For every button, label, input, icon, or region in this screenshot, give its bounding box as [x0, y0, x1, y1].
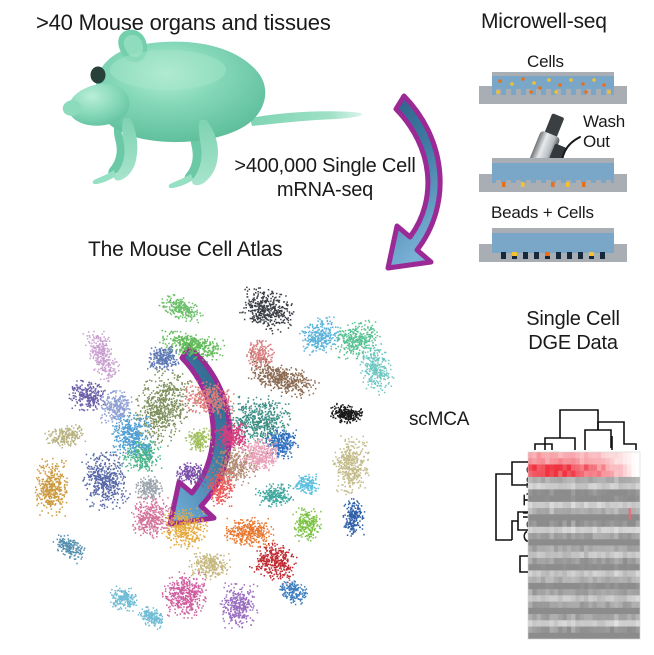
heatmap-cell — [597, 452, 602, 459]
heatmap-cell — [567, 477, 572, 484]
tsne-points-cluster-18 — [265, 428, 299, 459]
tsne-cluster — [135, 476, 163, 501]
heatmap-cell — [610, 577, 615, 584]
heatmap-cell — [618, 452, 623, 459]
heatmap-cell — [593, 570, 598, 577]
heatmap-cell — [537, 602, 542, 609]
tsne-points-cluster-29 — [343, 498, 366, 537]
heatmap-cell — [610, 496, 615, 503]
heatmap-cell — [627, 521, 632, 528]
heatmap-cell — [567, 558, 572, 565]
heatmap-cell — [627, 546, 632, 553]
heatmap-cell — [588, 533, 593, 540]
heatmap-cell — [571, 527, 576, 534]
heatmap-cell — [575, 452, 580, 459]
heatmap-cell — [636, 452, 641, 459]
tsne-points-cluster-22 — [332, 435, 369, 495]
heatmap-cell — [593, 452, 598, 459]
heatmap-cell — [580, 577, 585, 584]
atlas-title: The Mouse Cell Atlas — [88, 238, 282, 263]
mouse-hind-leg — [192, 120, 218, 185]
heatmap-cell — [597, 589, 602, 596]
tsne-points-cluster-24 — [81, 452, 131, 511]
tsne-points-cluster-33 — [249, 543, 298, 585]
microwell-plate-beads — [479, 228, 627, 262]
heatmap-cell — [584, 564, 589, 571]
heatmap-cell — [623, 564, 628, 571]
heatmap-cell — [623, 577, 628, 584]
heatmap-cell — [571, 471, 576, 478]
heatmap-cell — [571, 483, 576, 490]
heatmap-cell — [588, 489, 593, 496]
heatmap-cell — [618, 627, 623, 634]
heatmap-cell — [580, 521, 585, 528]
plate-1-body — [479, 72, 627, 104]
tsne-cluster — [159, 330, 225, 363]
tsne-points-cluster-05 — [83, 331, 121, 383]
heatmap-cell — [554, 620, 559, 627]
heatmap-cell — [571, 620, 576, 627]
heatmap-cell — [601, 589, 606, 596]
heatmap-cell — [588, 464, 593, 471]
heatmap-cell — [593, 521, 598, 528]
tsne-points-cluster-45 — [135, 476, 163, 501]
heatmap-cell — [631, 570, 636, 577]
heatmap-cell — [597, 539, 602, 546]
heatmap-cell — [584, 595, 589, 602]
heatmap-cell — [580, 452, 585, 459]
heatmap-cell — [571, 477, 576, 484]
heatmap-cell — [593, 633, 598, 640]
heatmap-cell — [614, 508, 619, 515]
heatmap-cell — [597, 564, 602, 571]
heatmap-cell — [558, 608, 563, 615]
tsne-cluster — [229, 395, 291, 445]
heatmap-cell — [631, 496, 636, 503]
tsne-cluster — [335, 320, 382, 360]
heatmap-cell — [597, 508, 602, 515]
heatmap-cell — [610, 464, 615, 471]
heatmap-cell — [636, 552, 641, 559]
heatmap-cell — [610, 483, 615, 490]
heatmap-cell — [575, 608, 580, 615]
heatmap-cell — [550, 620, 555, 627]
heatmap-cell — [562, 595, 567, 602]
heatmap-cell — [528, 627, 533, 634]
cell-type-heatmap — [496, 410, 640, 639]
tsne-points-cluster-44 — [185, 428, 214, 452]
heatmap-cell — [606, 471, 611, 478]
heatmap-cell — [618, 577, 623, 584]
microwell-title: Microwell-seq — [481, 10, 607, 35]
tsne-points-cluster-09 — [360, 345, 395, 395]
heatmap-cell — [610, 602, 615, 609]
heatmap-cell — [571, 552, 576, 559]
heatmap-cell — [606, 502, 611, 509]
heatmap-cell — [606, 464, 611, 471]
heatmap-cell — [618, 508, 623, 515]
heatmap-cell — [601, 627, 606, 634]
tsne-points-cluster-26 — [176, 462, 209, 487]
heatmap-cell — [575, 527, 580, 534]
heatmap-cell — [584, 558, 589, 565]
heatmap-cell — [606, 558, 611, 565]
heatmap-cell — [567, 546, 572, 553]
heatmap-cell — [545, 595, 550, 602]
heatmap-cell — [567, 452, 572, 459]
heatmap-cell — [601, 570, 606, 577]
heatmap-cell — [588, 570, 593, 577]
heatmap-cell — [528, 595, 533, 602]
heatmap-cell — [606, 452, 611, 459]
heatmap-cell — [606, 489, 611, 496]
heatmap-cell — [614, 477, 619, 484]
heatmap-cell — [597, 464, 602, 471]
heatmap-cell — [606, 627, 611, 634]
heatmap-cell — [593, 608, 598, 615]
heatmap-cell — [636, 546, 641, 553]
heatmap-cell — [623, 595, 628, 602]
heatmap-cell — [627, 508, 632, 515]
heatmap-cell — [623, 483, 628, 490]
heatmap-cell — [614, 608, 619, 615]
heatmap-cell — [554, 608, 559, 615]
heatmap-cell — [627, 608, 632, 615]
pipette-button — [549, 143, 566, 162]
heatmap-cell — [618, 514, 623, 521]
tsne-cluster — [360, 345, 395, 395]
heatmap-cell — [627, 595, 632, 602]
heatmap-cell — [627, 620, 632, 627]
heatmap-cell — [588, 558, 593, 565]
heatmap-cell — [528, 602, 533, 609]
heatmap-cell — [584, 483, 589, 490]
heatmap-cell — [593, 614, 598, 621]
heatmap-cell — [545, 589, 550, 596]
heatmap-cell — [584, 502, 589, 509]
tsne-cluster — [248, 353, 320, 399]
mouse-nose — [63, 100, 82, 116]
heatmap-cell — [584, 533, 589, 540]
heatmap-cell — [571, 452, 576, 459]
heatmap-cell — [601, 558, 606, 565]
heatmap-cell — [567, 595, 572, 602]
heatmap-cell — [627, 564, 632, 571]
mouse-front-foot — [93, 170, 116, 184]
heatmap-cell — [567, 527, 572, 534]
heatmap-cell — [610, 558, 615, 565]
heatmap-cell — [562, 602, 567, 609]
heatmap-cell — [532, 595, 537, 602]
heatmap-cell — [627, 627, 632, 634]
heatmap-cell — [571, 608, 576, 615]
heatmap-cell — [636, 539, 641, 546]
tsne-cluster — [44, 424, 86, 448]
tsne-cluster — [176, 462, 209, 487]
heatmap-cell — [601, 452, 606, 459]
heatmap-cell — [571, 583, 576, 590]
heatmap-cell — [597, 502, 602, 509]
heatmap-cell — [550, 614, 555, 621]
heatmap-cell — [554, 602, 559, 609]
heatmap-cell — [618, 489, 623, 496]
heatmap-cell — [528, 589, 533, 596]
heatmap-cell — [588, 583, 593, 590]
heatmap-cell — [532, 589, 537, 596]
heatmap-cell — [584, 471, 589, 478]
tsne-points-cluster-08 — [246, 340, 275, 371]
heatmap-cell — [614, 514, 619, 521]
heatmap-cell — [575, 564, 580, 571]
heatmap-cell — [627, 583, 632, 590]
heatmap-cell — [627, 614, 632, 621]
heatmap-cell — [541, 595, 546, 602]
heatmap-cell — [614, 452, 619, 459]
tsne-points-cluster-34 — [53, 534, 86, 564]
wash-out-label: Wash Out — [583, 112, 625, 152]
heatmap-cell — [606, 521, 611, 528]
heatmap-cell — [575, 483, 580, 490]
heatmap-cell — [618, 477, 623, 484]
heatmap-cell — [618, 527, 623, 534]
heatmap-cell — [601, 602, 606, 609]
heatmap-cell — [614, 558, 619, 565]
heatmap-cell — [610, 546, 615, 553]
heatmap-cell — [575, 521, 580, 528]
heatmap-cell — [606, 533, 611, 540]
heatmap-cell — [627, 527, 632, 534]
heatmap-cell — [567, 508, 572, 515]
heatmap-cell — [631, 521, 636, 528]
heatmap-cell — [567, 570, 572, 577]
heatmap-cell — [588, 483, 593, 490]
heatmap-cell — [550, 633, 555, 640]
heatmap-cell — [597, 595, 602, 602]
tsne-points-cluster-01 — [239, 287, 294, 335]
beads-cells-label: Beads + Cells — [491, 203, 594, 223]
heatmap-cell — [623, 620, 628, 627]
tsne-points-cluster-20 — [212, 446, 259, 486]
plate-2-wells — [496, 180, 611, 188]
heatmap-cell — [627, 539, 632, 546]
heatmap-cell — [593, 471, 598, 478]
heatmap-cell — [537, 614, 542, 621]
heatmap-cell — [580, 633, 585, 640]
heatmap-cell — [610, 564, 615, 571]
tsne-points-cluster-36 — [162, 571, 207, 618]
heatmap-cell — [588, 564, 593, 571]
heatmap-cell — [636, 508, 641, 515]
heatmap-cell — [575, 496, 580, 503]
heatmap-cell — [584, 608, 589, 615]
heatmap-cell — [631, 558, 636, 565]
heatmap-cell — [571, 595, 576, 602]
heatmap-cell — [528, 633, 533, 640]
heatmap-cell — [606, 483, 611, 490]
heatmap-cell — [610, 570, 615, 577]
heatmap-cell — [601, 577, 606, 584]
tsne-points-cluster-27 — [255, 483, 294, 507]
heatmap-cell — [618, 521, 623, 528]
heatmap-cell — [558, 633, 563, 640]
heatmap-cell — [623, 570, 628, 577]
tsne-cluster — [332, 435, 369, 495]
heatmap-cell — [614, 546, 619, 553]
heatmap-cell — [627, 570, 632, 577]
heatmap-cell — [636, 633, 641, 640]
heatmap-cell — [575, 570, 580, 577]
heatmap-cell — [580, 464, 585, 471]
heatmap-cell — [593, 577, 598, 584]
heatmap-cell — [567, 577, 572, 584]
heatmap-cell — [636, 533, 641, 540]
heatmap-cell — [631, 508, 636, 515]
heatmap-cell — [567, 489, 572, 496]
heatmap-cell — [623, 533, 628, 540]
heatmap-cell — [575, 614, 580, 621]
arrow-scmca — [170, 347, 230, 524]
heatmap-cell — [554, 627, 559, 634]
heatmap-cell — [636, 608, 641, 615]
heatmap-cell — [571, 633, 576, 640]
heatmap-cell — [636, 614, 641, 621]
heatmap-cell — [537, 589, 542, 596]
tsne-points-cluster-32 — [292, 507, 321, 541]
heatmap-cell — [588, 477, 593, 484]
heatmap-cell — [541, 608, 546, 615]
heatmap-cell — [610, 595, 615, 602]
heatmap-cell — [627, 496, 632, 503]
heatmap-cell — [571, 521, 576, 528]
heatmap-cell — [588, 633, 593, 640]
heatmap-cell — [597, 552, 602, 559]
heatmap-cell — [575, 533, 580, 540]
heatmap-cell — [584, 508, 589, 515]
heatmap-cell — [541, 589, 546, 596]
heatmap-cell — [606, 595, 611, 602]
heatmap-cell — [584, 627, 589, 634]
heatmap-cell — [614, 502, 619, 509]
heatmap-cell — [627, 471, 632, 478]
tsne-points-cluster-43 — [100, 390, 133, 423]
heatmap-cell — [571, 533, 576, 540]
tsne-points-cluster-13 — [44, 424, 86, 448]
heatmap-cell — [584, 489, 589, 496]
heatmap-cell — [580, 595, 585, 602]
heatmap-cell — [528, 614, 533, 621]
heatmap-cell — [618, 533, 623, 540]
heatmap-cell — [636, 577, 641, 584]
tsne-cluster — [185, 428, 214, 452]
heatmap-cell — [601, 614, 606, 621]
tsne-cluster — [161, 508, 208, 550]
heatmap-cell — [636, 583, 641, 590]
heatmap-cell — [601, 514, 606, 521]
heatmap-cell — [614, 595, 619, 602]
heatmap-cell — [627, 552, 632, 559]
heatmap-cell — [610, 508, 615, 515]
heatmap-cell — [618, 589, 623, 596]
heatmap-cell — [580, 471, 585, 478]
heatmap-cell — [571, 570, 576, 577]
heatmap-cell — [618, 564, 623, 571]
heatmap-cell — [584, 464, 589, 471]
heatmap-cell — [532, 627, 537, 634]
heatmap-cell — [618, 471, 623, 478]
tsne-cluster — [265, 428, 299, 459]
heatmap-cell — [588, 620, 593, 627]
heatmap-cell — [567, 602, 572, 609]
heatmap-cell — [597, 558, 602, 565]
heatmap-cell — [584, 589, 589, 596]
heatmap-cell — [610, 583, 615, 590]
heatmap-cell — [554, 595, 559, 602]
heatmap-cell — [593, 539, 598, 546]
heatmap-cell — [636, 564, 641, 571]
heatmap-cell — [623, 546, 628, 553]
heatmap-cell — [631, 633, 636, 640]
heatmap-cell — [580, 564, 585, 571]
heatmap-cell — [623, 608, 628, 615]
heatmap-cell — [567, 620, 572, 627]
heatmap-cell — [550, 595, 555, 602]
mouse-front-leg — [114, 118, 137, 181]
heatmap-cell — [580, 502, 585, 509]
heatmap-cell — [610, 514, 615, 521]
heatmap-cell — [631, 589, 636, 596]
heatmap-cell — [631, 539, 636, 546]
heatmap-cell — [571, 464, 576, 471]
heatmap-cell — [588, 471, 593, 478]
heatmap-cell — [614, 552, 619, 559]
heatmap-cell — [623, 477, 628, 484]
heatmap-cell — [567, 627, 572, 634]
heatmap-cell — [562, 627, 567, 634]
plate-1-liquid — [492, 76, 614, 95]
heatmap-cell — [597, 483, 602, 490]
heatmap-cell — [606, 589, 611, 596]
tsne-cluster — [214, 421, 248, 451]
heatmap-cell — [614, 589, 619, 596]
heatmap-cell — [623, 514, 628, 521]
scmca-label: scMCA — [409, 409, 469, 431]
heatmap-cell — [601, 527, 606, 534]
heatmap-cell — [597, 614, 602, 621]
heatmap-cell — [554, 589, 559, 596]
plate-3-beads — [501, 252, 605, 259]
tsne-points-cluster-40 — [138, 606, 163, 630]
heatmap-cell — [571, 508, 576, 515]
heatmap-cell — [636, 458, 641, 465]
heatmap-cell — [636, 570, 641, 577]
heatmap-cell — [593, 514, 598, 521]
heatmap-cell — [584, 521, 589, 528]
heatmap-cell — [584, 552, 589, 559]
tsne-points-cluster-21 — [240, 438, 278, 471]
heatmap-cell — [618, 614, 623, 621]
heatmap-cell — [636, 489, 641, 496]
heatmap-cell — [623, 589, 628, 596]
heatmap-cell — [580, 558, 585, 565]
heatmap-cell — [580, 620, 585, 627]
heatmap-cell — [580, 614, 585, 621]
heatmap-cell — [631, 602, 636, 609]
tsne-points-cluster-39 — [110, 586, 138, 612]
tsne-points-cluster-19 — [121, 439, 162, 472]
heatmap-cell — [623, 471, 628, 478]
tsne-points-cluster-23 — [35, 458, 68, 517]
heatmap-cell — [584, 570, 589, 577]
